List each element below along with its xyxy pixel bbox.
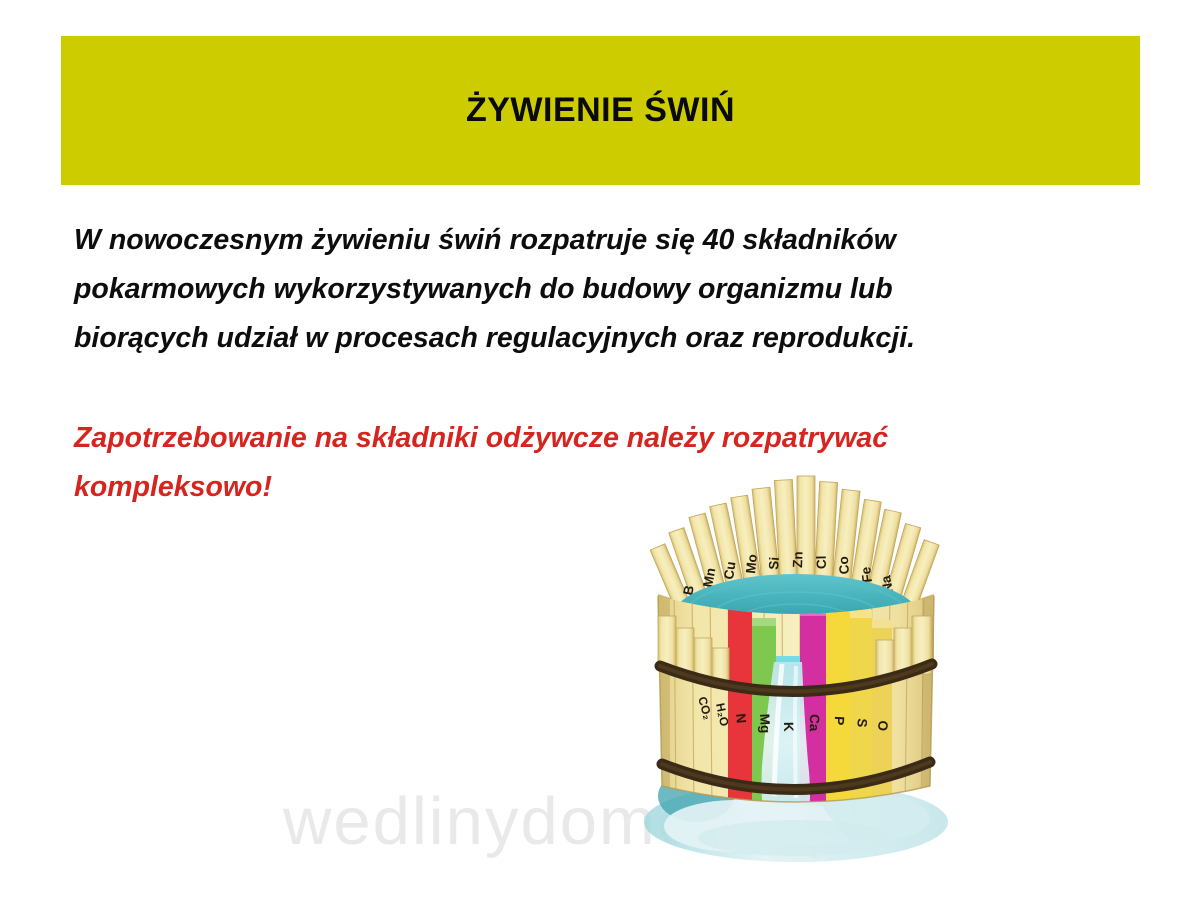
page-title: ŻYWIENIE ŚWIŃ [466, 91, 735, 130]
stave-label-top: Cl [814, 555, 829, 569]
stave-label-top: Mo [743, 553, 760, 574]
stave-label-top: Zn [790, 551, 806, 568]
paragraph-line: W nowoczesnym żywieniu świń rozpatruje s… [74, 216, 1084, 265]
title-banner: ŻYWIENIE ŚWIŃ [61, 36, 1140, 185]
stave-label-top: Co [836, 556, 852, 575]
paragraph-line: pokarmowych wykorzystywanych do budowy o… [74, 265, 1084, 314]
liebig-barrel-illustration: B Mn Cu Mo Si Zn Cl Co Fe Na [636, 466, 956, 876]
stave-label-front: S [854, 718, 870, 728]
paragraph-line: biorących udział w procesach regulacyjny… [74, 314, 1084, 363]
stave-label-front: Ca [807, 714, 822, 732]
stave-label-front: P [832, 716, 847, 726]
body-paragraph: W nowoczesnym żywieniu świń rozpatruje s… [74, 216, 1084, 363]
stave-label-front: K [781, 722, 796, 732]
stave-label-front: O [875, 720, 891, 732]
stave-label-front: N [733, 713, 749, 724]
accent-line: Zapotrzebowanie na składniki odżywcze na… [74, 414, 1084, 463]
stave-label-top: Si [766, 556, 782, 570]
stave-label-front: Mg [757, 713, 773, 733]
stave-label-top: Cu [721, 561, 738, 581]
